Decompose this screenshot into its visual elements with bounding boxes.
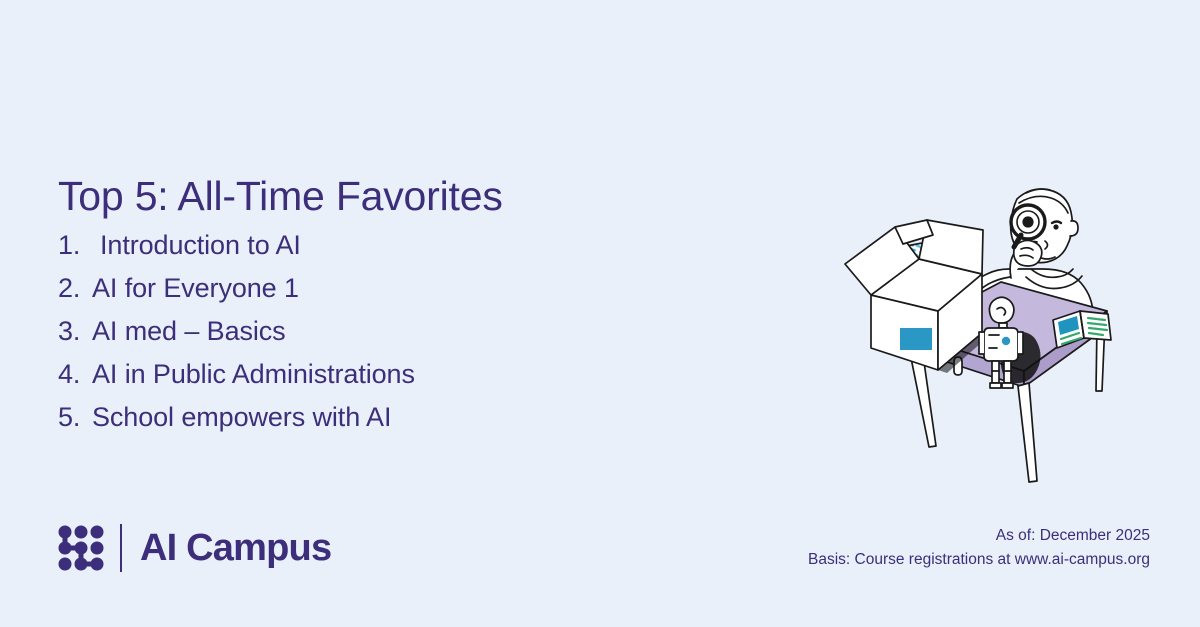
cardboard-box [845, 220, 990, 373]
list-item-number: 2. [58, 273, 92, 304]
dot-grid-logo-icon [58, 525, 104, 571]
slide-canvas: Top 5: All-Time Favorites 1. Introductio… [0, 0, 1200, 627]
person-inspecting-robot-illustration [805, 165, 1135, 470]
list-item-label: School empowers with AI [92, 402, 391, 433]
top-five-list: 1. Introduction to AI 2. AI for Everyone… [58, 230, 415, 445]
footnote-basis: Basis: Course registrations at www.ai-ca… [808, 548, 1150, 572]
list-item-number: 5. [58, 402, 92, 433]
list-item: 5. School empowers with AI [58, 402, 415, 445]
page-title: Top 5: All-Time Favorites [58, 173, 503, 220]
list-item-number: 3. [58, 316, 92, 347]
brand-name: AI Campus [140, 529, 331, 567]
list-item: 2. AI for Everyone 1 [58, 273, 415, 316]
list-item: 3. AI med – Basics [58, 316, 415, 359]
footnote: As of: December 2025 Basis: Course regis… [808, 524, 1150, 572]
list-item-label: AI for Everyone 1 [92, 273, 299, 304]
brand-divider [120, 524, 122, 572]
list-item: 4. AI in Public Administrations [58, 359, 415, 402]
list-item-label: AI in Public Administrations [92, 359, 415, 390]
list-item-number: 4. [58, 359, 92, 390]
brand-lockup: AI Campus [58, 518, 331, 578]
list-item-number: 1. [58, 230, 100, 261]
list-item: 1. Introduction to AI [58, 230, 415, 273]
footnote-as-of: As of: December 2025 [808, 524, 1150, 548]
list-item-label: AI med – Basics [92, 316, 286, 347]
list-item-label: Introduction to AI [100, 230, 301, 261]
